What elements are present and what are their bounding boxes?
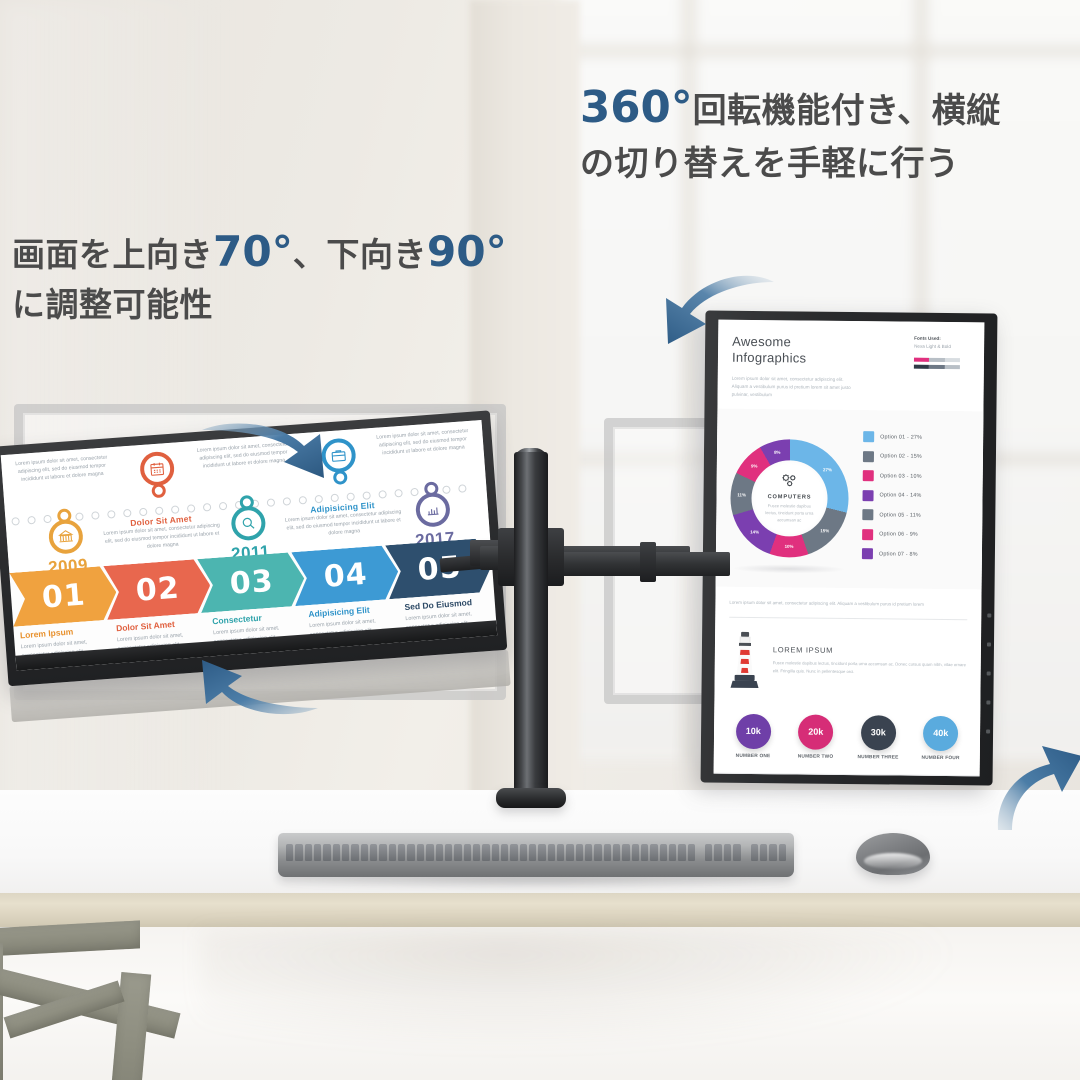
calendar-icon — [139, 451, 175, 487]
fonts-used-label: Fonts Used: — [914, 336, 970, 342]
legend-item: Option 06 - 9% — [862, 529, 921, 541]
mouse-puck-icon — [856, 833, 930, 875]
headline-left-mid: 、下向き — [293, 235, 427, 274]
chevron-step-03: 03 — [197, 551, 306, 613]
stat-label: NUMBER THREE — [849, 755, 907, 761]
timeline-text-adipisicing: Adipisicing Elit Lorem ipsum dolor sit a… — [283, 498, 403, 541]
stat-bubble: 40k — [923, 716, 958, 751]
headline-left: 画面を上向き70°、下向き90° に調整可能性 — [12, 222, 572, 329]
lighthouse-title: LOREM IPSUM — [773, 645, 967, 656]
stat-label: NUMBER ONE — [724, 753, 782, 759]
donut-slice-label: 8% — [774, 450, 780, 455]
donut-chart-section: COMPUTERS Fusce molestie dapibus lectus,… — [716, 409, 984, 590]
stat-item: 40k NUMBER FOUR — [912, 715, 970, 761]
mount-clamp-right — [640, 542, 656, 582]
donut-slice-label: 9% — [751, 464, 757, 469]
keyboard-icon — [278, 833, 794, 877]
legend-item: Option 03 - 10% — [863, 470, 922, 482]
legend-label: Option 04 - 14% — [880, 492, 922, 498]
donut-center-text: Fusce molestie dapibus lectus, tincidunt… — [763, 503, 815, 524]
chart-icon — [415, 492, 451, 528]
stat-bubble: 20k — [798, 714, 833, 749]
legend-item: Option 01 - 27% — [863, 431, 922, 443]
monitor-osd-buttons[interactable] — [986, 613, 991, 733]
stat-bubble: 10k — [736, 714, 771, 749]
product-scene: Lorem ipsum dolor sit amet, consectetur … — [0, 0, 1080, 1080]
legend-label: Option 01 - 27% — [880, 434, 922, 440]
timeline-top-text-1: Lorem ipsum dolor sit amet, consectetur … — [7, 453, 116, 485]
headline-right-line1: 回転機能付き、横縦 — [693, 91, 1001, 131]
chevron-number: 01 — [41, 577, 87, 615]
chevron-number: 03 — [229, 563, 275, 601]
headline-left-number1: 70° — [213, 227, 293, 276]
headline-left-number2: 90° — [427, 227, 507, 276]
chevron-number: 02 — [135, 570, 181, 608]
infographic-subtitle: Lorem ipsum dolor sit amet, consectetur … — [732, 374, 852, 400]
stat-item: 30k NUMBER THREE — [849, 715, 907, 761]
desk-shadow — [200, 930, 960, 1050]
mount-arm-right — [540, 552, 730, 576]
chevron-step-02: 02 — [103, 558, 212, 620]
legend-item: Option 04 - 14% — [862, 490, 921, 502]
fonts-used-value: Nexa Light & Bold — [914, 344, 970, 350]
timeline-text-dolor: Dolor Sit Amet Lorem ipsum dolor sit ame… — [102, 511, 222, 554]
legend-label: Option 02 - 15% — [880, 453, 922, 459]
portrait-monitor[interactable]: Awesome Infographics Lorem ipsum dolor s… — [701, 310, 998, 785]
tilt-arrow-upper — [196, 416, 338, 494]
mount-pole — [514, 452, 548, 800]
donut-slice-label: 10% — [785, 544, 794, 549]
donut-chart: COMPUTERS Fusce molestie dapibus lectus,… — [730, 439, 849, 558]
infographic-page: Awesome Infographics Lorem ipsum dolor s… — [714, 320, 985, 777]
headline-left-line2: に調整可能性 — [12, 285, 213, 324]
color-swatches — [914, 358, 970, 369]
gears-icon — [780, 473, 800, 490]
headline-left-pre: 画面を上向き — [12, 235, 213, 274]
swatch-row — [914, 358, 960, 362]
stat-item: 10k NUMBER ONE — [724, 713, 782, 759]
legend-label: Option 07 - 8% — [879, 551, 918, 557]
legend-item: Option 05 - 11% — [862, 509, 921, 521]
tilt-arrow-lower — [192, 650, 324, 722]
headline-right-number: 360° — [580, 83, 693, 133]
rotate-arrow-top — [648, 262, 780, 354]
stat-item: 20k NUMBER TWO — [787, 714, 845, 760]
legend-label: Option 06 - 9% — [879, 531, 918, 537]
chevron-number: 04 — [323, 556, 369, 594]
donut-center-title: COMPUTERS — [768, 495, 812, 501]
timeline-top-text-3: Lorem ipsum dolor sit amet, consectetur … — [368, 426, 477, 458]
portrait-monitor-screen: Awesome Infographics Lorem ipsum dolor s… — [714, 320, 985, 777]
legend-item: Option 07 - 8% — [862, 548, 921, 560]
legend-label: Option 03 - 10% — [880, 473, 922, 479]
donut-slice-label: 15% — [820, 529, 829, 534]
search-icon — [230, 505, 266, 541]
donut-slice-label: 27% — [823, 467, 832, 472]
stats-row: 10k NUMBER ONE 20k NUMBER TWO 30k NUMBER… — [714, 701, 981, 775]
lighthouse-body: Fusce molestie dapibus lectus, tincidunt… — [773, 659, 967, 676]
donut-legend: Option 01 - 27% Option 02 - 15% Option 0… — [862, 431, 922, 568]
stat-label: NUMBER TWO — [787, 754, 845, 760]
desk-leg — [0, 925, 265, 1080]
timeline-node-dolor — [119, 449, 196, 500]
headline-right-line2: の切り替えを手軽に行う — [580, 144, 960, 184]
stat-bubble: 30k — [861, 715, 896, 750]
rotate-arrow-bottom — [992, 742, 1080, 834]
lighthouse-section: LOREM IPSUM Fusce molestie dapibus lectu… — [714, 617, 981, 704]
legend-item: Option 02 - 15% — [863, 451, 922, 463]
donut-slice-label: 14% — [750, 529, 759, 534]
lighthouse-icon — [729, 630, 762, 690]
desk-edge — [0, 893, 1080, 929]
chevron-step-04: 04 — [291, 545, 400, 607]
chevron-step-01: 01 — [9, 565, 118, 627]
bank-icon — [48, 519, 84, 555]
infographic-paragraph: Lorem ipsum dolor sit amet, consectetur … — [715, 587, 981, 619]
stat-label: NUMBER FOUR — [912, 755, 970, 761]
donut-slice-label: 11% — [737, 492, 746, 497]
mount-base — [496, 788, 566, 808]
headline-right: 360°回転機能付き、横縦 の切り替えを手軽に行う — [580, 78, 1072, 188]
legend-label: Option 05 - 11% — [879, 512, 921, 518]
swatch-row — [914, 364, 960, 368]
